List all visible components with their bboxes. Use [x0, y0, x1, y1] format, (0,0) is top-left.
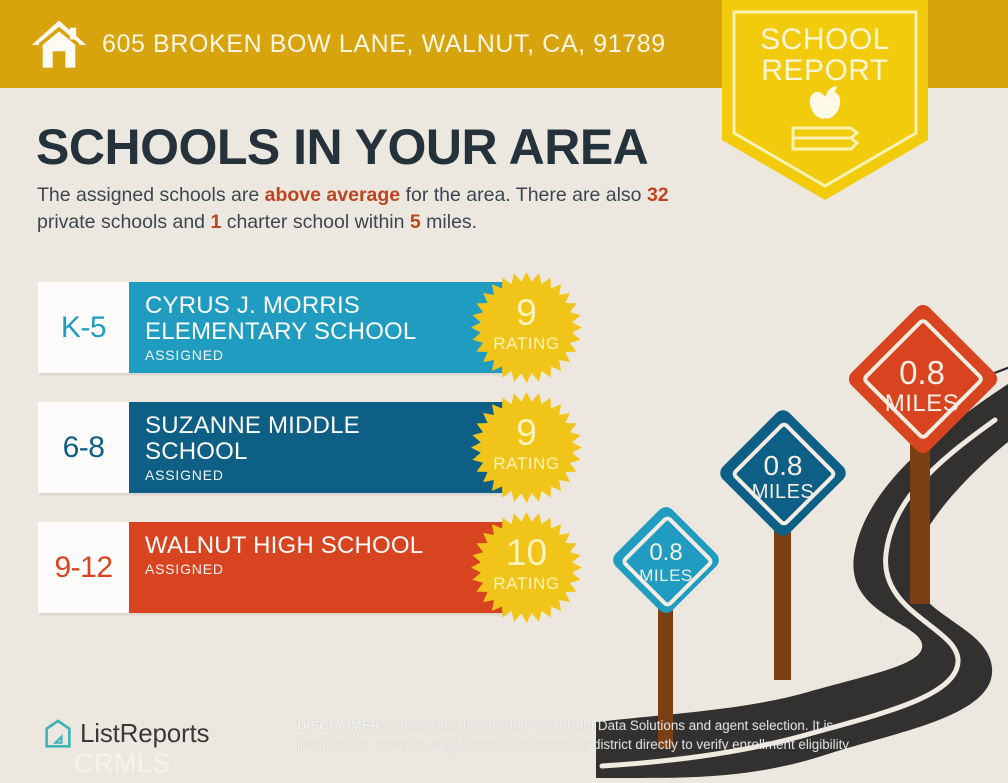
sign-distance-value: 0.8 — [612, 539, 720, 567]
property-address: 605 BROKEN BOW LANE, WALNUT, CA, 91789 — [102, 30, 666, 59]
school-status: ASSIGNED — [145, 561, 508, 577]
subtitle-highlight-above-average: above average — [265, 184, 401, 206]
subtitle-part-1: The assigned schools are — [37, 184, 265, 206]
grade-range-box: 9-12 — [38, 522, 129, 613]
school-row-high[interactable]: 9-12 WALNUT HIGH SCHOOL ASSIGNED 10 RATI… — [38, 522, 508, 613]
rating-starburst-badge: 10 RATING — [471, 512, 582, 623]
listreports-brand-name: ListReports — [80, 718, 209, 749]
rating-value: 9 — [471, 414, 582, 451]
school-status: ASSIGNED — [145, 467, 508, 483]
subtitle-highlight-charter-count: 1 — [210, 211, 221, 233]
school-row-elementary[interactable]: K-5 CYRUS J. MORRIS ELEMENTARY SCHOOL AS… — [38, 282, 508, 373]
school-status: ASSIGNED — [145, 347, 508, 363]
rating-value: 9 — [471, 294, 582, 331]
school-row-middle[interactable]: 6-8 SUZANNE MIDDLE SCHOOL ASSIGNED 9 RAT… — [38, 402, 508, 493]
school-info: WALNUT HIGH SCHOOL ASSIGNED — [129, 522, 508, 613]
rating-label: RATING — [471, 454, 582, 474]
sign-distance-unit: MILES — [720, 481, 846, 504]
badge-title-line1: SCHOOL — [722, 24, 928, 55]
school-report-badge: SCHOOL REPORT — [722, 0, 928, 200]
grade-range-box: 6-8 — [38, 402, 129, 493]
road-illustration: 0.8 MILES 0.8 MILES 0.8 MILES — [596, 292, 1008, 778]
grade-range-label: 9-12 — [54, 551, 112, 585]
school-name: SUZANNE MIDDLE SCHOOL — [145, 413, 465, 465]
disclaimer-label: DISCLAIMER: — [297, 718, 385, 733]
sign-distance-value: 0.8 — [720, 450, 846, 482]
grade-range-box: K-5 — [38, 282, 129, 373]
subtitle-highlight-radius: 5 — [410, 211, 421, 233]
crmls-watermark: CRMLS — [74, 748, 171, 779]
listreports-brand[interactable]: ListReports — [44, 718, 209, 749]
sign-distance-value: 0.8 — [848, 354, 996, 392]
sign-distance-unit: MILES — [612, 566, 720, 586]
distance-sign-high-school: 0.8 MILES — [848, 306, 996, 606]
badge-title: SCHOOL REPORT — [722, 24, 928, 86]
disclaimer-text: DISCLAIMER: School data is provided by A… — [297, 716, 887, 754]
school-name: WALNUT HIGH SCHOOL — [145, 533, 465, 559]
rating-starburst-badge: 9 RATING — [471, 272, 582, 383]
school-list: K-5 CYRUS J. MORRIS ELEMENTARY SCHOOL AS… — [38, 282, 508, 642]
sign-post — [774, 520, 791, 680]
grade-range-label: K-5 — [61, 311, 106, 345]
sign-distance-unit: MILES — [848, 390, 996, 418]
badge-title-line2: REPORT — [722, 55, 928, 86]
subtitle-part-3: private schools and — [37, 211, 210, 233]
sign-post — [910, 434, 930, 604]
distance-sign-middle-school: 0.8 MILES — [720, 412, 848, 692]
subtitle-part-5: miles. — [421, 211, 477, 233]
rating-label: RATING — [471, 334, 582, 354]
listreports-logo-icon — [44, 719, 72, 749]
rating-label: RATING — [471, 574, 582, 594]
school-info: CYRUS J. MORRIS ELEMENTARY SCHOOL ASSIGN… — [129, 282, 508, 373]
school-name: CYRUS J. MORRIS ELEMENTARY SCHOOL — [145, 293, 465, 345]
subtitle-part-2: for the area. There are also — [400, 184, 647, 206]
subtitle-part-4: charter school within — [221, 211, 410, 233]
home-icon — [30, 15, 88, 73]
rating-value: 10 — [471, 534, 582, 571]
subtitle-highlight-private-count: 32 — [647, 184, 669, 206]
rating-starburst-badge: 9 RATING — [471, 392, 582, 503]
school-info: SUZANNE MIDDLE SCHOOL ASSIGNED — [129, 402, 508, 493]
page-title: SCHOOLS IN YOUR AREA — [36, 118, 648, 176]
grade-range-label: 6-8 — [63, 431, 105, 465]
page-subtitle: The assigned schools are above average f… — [37, 182, 717, 236]
